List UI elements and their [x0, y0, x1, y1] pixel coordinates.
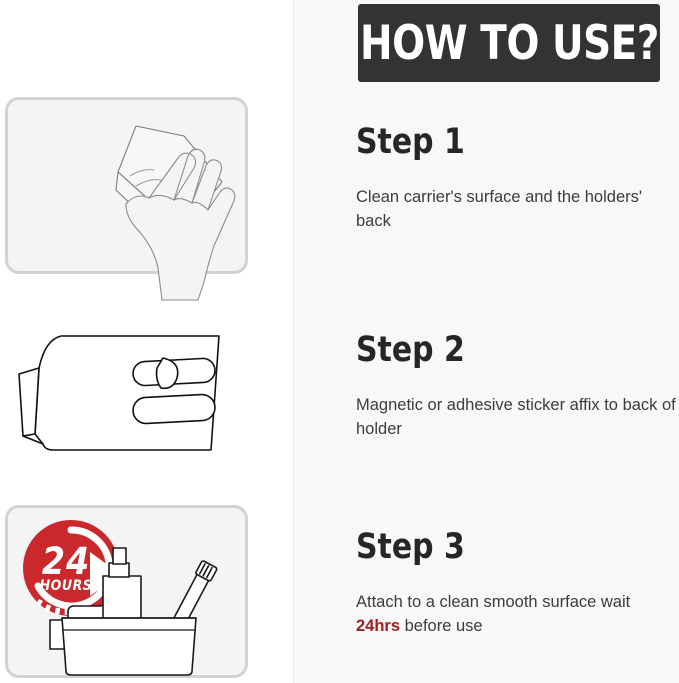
- step-1-description-text: Clean carrier's surface and the holders'…: [356, 188, 642, 230]
- svg-text:HOURS: HOURS: [40, 578, 93, 594]
- step-block-3: Step 3 Attach to a clean smooth surface …: [356, 530, 676, 639]
- illustration-panel-step-3: 24 HOURS: [5, 505, 248, 678]
- step-1-title: Step 1: [356, 125, 660, 160]
- step-block-2: Step 2 Magnetic or adhesive sticker affi…: [356, 333, 676, 442]
- text-column: HOW TO USE? Step 1 Clean carrier's surfa…: [294, 0, 679, 683]
- holder-back-adhesive-icon: [5, 322, 255, 484]
- illustration-panel-step-2: [5, 322, 248, 484]
- step-1-description: Clean carrier's surface and the holders'…: [356, 186, 676, 234]
- illustration-panel-step-1: [5, 97, 248, 274]
- illustration-column: 24 HOURS: [0, 0, 294, 683]
- step-3-description-text-after: before use: [400, 617, 483, 635]
- page-title: HOW TO USE?: [360, 20, 659, 67]
- step-3-title: Step 3: [356, 530, 660, 565]
- step-block-1: Step 1 Clean carrier's surface and the h…: [356, 125, 676, 234]
- step-2-title: Step 2: [356, 333, 660, 368]
- how-to-use-infographic: 24 HOURS: [0, 0, 679, 683]
- step-3-highlight-24hrs: 24hrs: [356, 617, 400, 635]
- step-3-description-text-before: Attach to a clean smooth surface wait: [356, 593, 630, 611]
- header-badge: HOW TO USE?: [358, 4, 660, 82]
- step-2-description: Magnetic or adhesive sticker affix to ba…: [356, 394, 676, 442]
- wait-24-hours-icon: 24 HOURS: [8, 508, 251, 681]
- step-2-description-text: Magnetic or adhesive sticker affix to ba…: [356, 396, 676, 438]
- svg-text:24: 24: [42, 540, 90, 583]
- step-3-description: Attach to a clean smooth surface wait 24…: [356, 591, 676, 639]
- hand-wiping-surface-icon: [8, 100, 251, 300]
